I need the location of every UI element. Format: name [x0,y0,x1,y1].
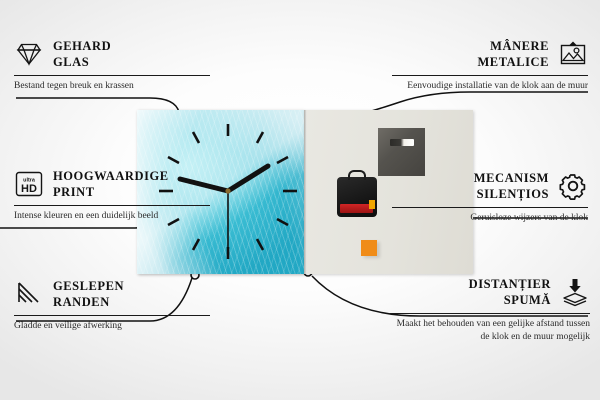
feature-glass-rule [14,75,210,76]
feature-edges: GESLEPEN RANDEN Gladde en veilige afwerk… [14,276,210,333]
feature-mechanism-title: MECANISM SILENȚIOS [474,170,549,202]
press-down-layers-icon [560,277,590,307]
clock-front-panel [137,110,304,274]
feature-glass-description: Bestand tegen breuk en krassen [14,80,210,93]
feature-mechanism-header: MECANISM SILENȚIOS [392,168,588,204]
feature-edges-title: GESLEPEN RANDEN [53,278,124,310]
feature-edges-header: GESLEPEN RANDEN [14,276,210,312]
battery [340,204,373,213]
clock-minute-hand [228,166,268,191]
feature-mechanism-description: Geruisloze wijzers van de klok [392,212,588,225]
feature-edges-description: Gladde en veilige afwerking [14,320,210,333]
feature-spacer: DISTANȚIER SPUMĂ Maakt het behouden van … [390,274,590,345]
feature-edges-rule [14,315,210,316]
foam-spacer [361,240,377,256]
feature-handles-header: MÂNERE METALICE [392,36,588,72]
feature-mechanism-rule [392,207,588,208]
feature-handles: MÂNERE METALICE Eenvoudige installatie v… [392,36,588,93]
picture-hanger-icon [558,39,588,69]
clock-dial [137,110,304,274]
feature-glass-title: GEHARD GLAS [53,38,111,70]
feature-spacer-rule [390,313,590,314]
panel-seam [304,110,307,274]
hanger-slot [390,139,414,146]
feature-spacer-header: DISTANȚIER SPUMĂ [390,274,590,310]
clock-center-cap [225,188,230,193]
gear-icon [558,171,588,201]
feature-spacer-title: DISTANȚIER SPUMĂ [469,276,551,308]
clock-movement [337,177,377,217]
clock-hour-hand [180,179,228,191]
diamond-icon [14,39,44,69]
svg-text:HD: HD [21,183,37,195]
movement-hanging-loop [348,170,366,180]
feature-handles-description: Eenvoudige installatie van de klok aan d… [392,80,588,93]
ultra-hd-icon: ultra HD [14,169,44,199]
feature-glass: GEHARD GLAS Bestand tegen breuk en krass… [14,36,210,93]
infographic-canvas: GEHARD GLAS Bestand tegen breuk en krass… [0,0,600,400]
feature-spacer-description: Maakt het behouden van een gelijke afsta… [390,318,590,345]
feature-mechanism: MECANISM SILENȚIOS Geruisloze wijzers va… [392,168,588,225]
feature-glass-header: GEHARD GLAS [14,36,210,72]
battery-terminal [369,200,375,209]
bevelled-edges-icon [14,279,44,309]
feature-handles-title: MÂNERE METALICE [477,38,549,70]
feature-handles-rule [392,75,588,76]
